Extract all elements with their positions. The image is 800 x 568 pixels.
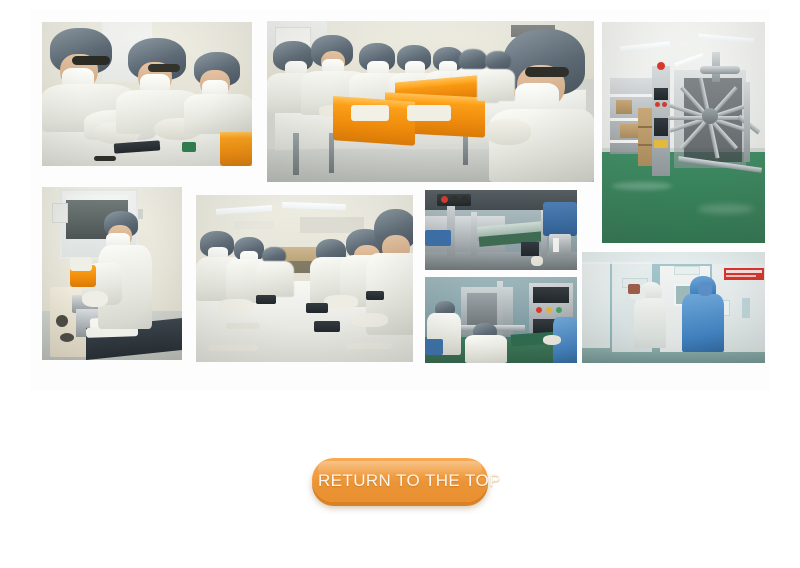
gallery-photo-1[interactable] <box>42 22 252 166</box>
return-to-top-label: RETURN TO THE TOP <box>318 471 501 490</box>
photo-3-scene <box>602 22 765 243</box>
photo-5-scene <box>196 195 413 362</box>
gallery-photo-3[interactable] <box>602 22 765 243</box>
page-root: RETURN TO THE TOP <box>0 0 800 568</box>
photo-8-scene <box>582 252 765 363</box>
gallery-photo-2[interactable] <box>267 21 594 182</box>
photo-6-scene <box>425 190 577 270</box>
gallery-photo-6[interactable] <box>425 190 577 270</box>
gallery-photo-5[interactable] <box>196 195 413 362</box>
return-to-top-button[interactable]: RETURN TO THE TOP <box>312 458 488 502</box>
photo-4-scene <box>42 187 182 360</box>
gallery-photo-8[interactable] <box>582 252 765 363</box>
footer-actions: RETURN TO THE TOP <box>0 458 800 502</box>
gallery-photo-4[interactable] <box>42 187 182 360</box>
gallery-photo-7[interactable] <box>425 277 577 363</box>
photo-2-scene <box>267 21 594 182</box>
photo-7-scene <box>425 277 577 363</box>
photo-1-scene <box>42 22 252 166</box>
